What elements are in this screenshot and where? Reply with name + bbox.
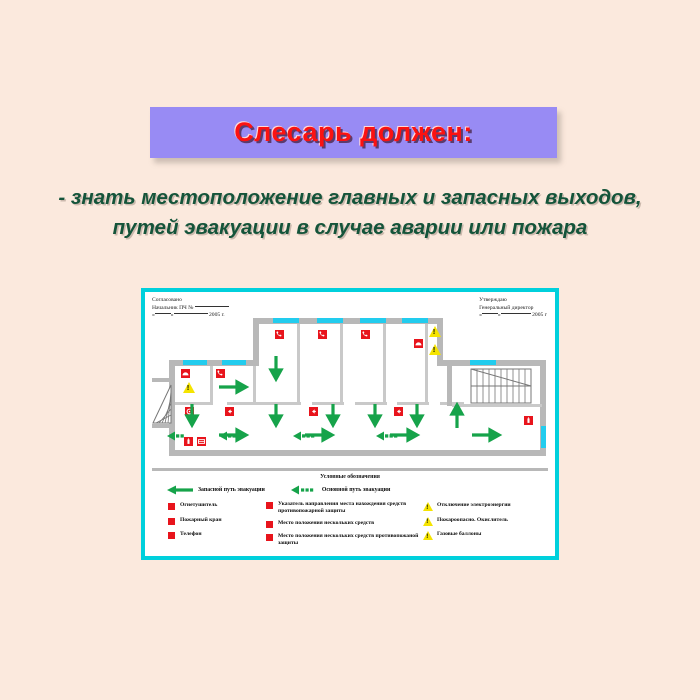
legend-item: Пожароопасно. Окислитель	[423, 517, 555, 526]
plan-header-left: Согласовано Начальник ПЧ № «» 2005 г.	[152, 297, 229, 320]
window-left-1	[183, 360, 207, 365]
partition-v-2	[253, 366, 256, 404]
legend-item-label: Газовые баллоны	[437, 531, 481, 538]
fire-chief-label: Начальник ПЧ №	[152, 305, 229, 313]
fire-alarm-bell-icon	[413, 338, 424, 349]
evacuation-arrow-down	[369, 404, 381, 426]
title-banner: Слесарь должен:	[150, 107, 557, 158]
dotted-arrow-left-icon	[291, 485, 317, 495]
telephone-icon	[317, 329, 328, 340]
telephone-icon	[215, 368, 226, 379]
partition-v-5	[383, 324, 386, 404]
page-title: Слесарь должен:	[234, 117, 473, 148]
window-top-1	[273, 318, 299, 323]
telephone-icon	[167, 531, 176, 540]
legend-item: Газовые баллоны	[423, 531, 555, 540]
evacuation-arrow-down	[186, 404, 198, 426]
wall-main-bottom	[169, 450, 546, 456]
warning-triangle-icon	[423, 502, 433, 511]
subtitle-line-1: - знать местоположение главных и запасны…	[0, 183, 700, 213]
solid-arrow-left-icon	[167, 485, 193, 495]
telephone-icon	[360, 329, 371, 340]
fire-extinguisher-icon	[167, 502, 176, 511]
partition-v-6	[425, 324, 428, 404]
legend-item-label: Место положения нескольких средств проти…	[278, 533, 423, 547]
legend-path-types: Запасной путь эвакуации Основной путь эв…	[167, 485, 547, 495]
evacuation-arrow-right	[472, 429, 500, 441]
telephone-icon	[274, 329, 285, 340]
legend-title: Условные обозначения	[145, 474, 555, 480]
window-left-2	[222, 360, 246, 365]
wall-stairroom-left	[447, 360, 452, 406]
fire-alarm-bell-icon	[180, 368, 191, 379]
window-top-3	[360, 318, 386, 323]
window-right-side	[541, 426, 546, 448]
evacuation-arrow-down	[270, 356, 282, 380]
direction-indicator-icon	[265, 501, 274, 510]
evacuation-plan: Согласовано Начальник ПЧ № «» 2005 г. Ут…	[141, 288, 559, 560]
warning-triangle-icon	[429, 344, 441, 355]
fire-alarm-bell-icon	[265, 533, 274, 542]
legend-item: Место положения нескольких средств	[265, 520, 423, 529]
warning-triangle-icon	[429, 326, 441, 337]
plan-header-right: Утверждаю Генеральный директор «» 2005 г	[479, 297, 547, 320]
evacuation-arrow-up	[451, 404, 463, 428]
direction-indicator-icon	[224, 406, 235, 417]
partition-v-1	[210, 366, 213, 404]
fire-hydrant-icon	[196, 436, 207, 447]
warning-triangle-icon	[423, 531, 433, 540]
evacuation-arrow-down	[270, 404, 282, 426]
subtitle-block: - знать местоположение главных и запасны…	[0, 183, 700, 243]
staircase-left-icon	[152, 382, 172, 424]
legend-item-label: Отключение электроэнергии	[437, 502, 511, 509]
legend-item: Телефон	[167, 531, 265, 540]
approval-label-right: Утверждаю	[479, 297, 547, 305]
legend-main-path-label: Основной путь эвакуации	[322, 487, 390, 493]
legend-item: Отключение электроэнергии	[423, 502, 555, 511]
approval-label-left: Согласовано	[152, 297, 229, 305]
wall-top-wing-right	[437, 318, 443, 362]
subtitle-line-2: путей эвакуации в случае аварии или пожа…	[0, 213, 700, 243]
legend-column-2: Указатель направления места нахождения с…	[265, 501, 423, 547]
legend-divider	[152, 468, 548, 471]
fire-hydrant-icon	[167, 517, 176, 526]
main-path-arrow-left	[291, 430, 317, 442]
legend-item: Пожарный кран	[167, 517, 265, 526]
legend-item-label: Место положения нескольких средств	[278, 520, 374, 527]
legend-column-3: Отключение электроэнергии Пожароопасно. …	[423, 501, 555, 547]
legend-item-label: Телефон	[180, 531, 202, 538]
evacuation-arrow-down	[411, 404, 423, 426]
fire-alarm-button-icon	[265, 520, 274, 529]
corridor-wall-a	[227, 402, 301, 405]
staircase-right-icon	[470, 368, 532, 404]
legend-column-1: Огнетушитель Пожарный кран Телефон	[167, 501, 265, 547]
evacuation-arrow-right	[219, 381, 247, 393]
legend-item-label: Указатель направления места нахождения с…	[278, 501, 423, 515]
window-top-2	[317, 318, 343, 323]
partition-v-4	[340, 324, 343, 404]
legend-reserve-path-label: Запасной путь эвакуации	[198, 487, 265, 493]
legend-reserve-path: Запасной путь эвакуации	[167, 485, 265, 495]
direction-indicator-icon	[308, 406, 319, 417]
legend-item: Огнетушитель	[167, 502, 265, 511]
legend-item-label: Пожароопасно. Окислитель	[437, 517, 508, 524]
legend-item: Указатель направления места нахождения с…	[265, 501, 423, 515]
evacuation-arrow-down	[327, 404, 339, 426]
wall-stair-alcove-bottom	[152, 424, 172, 428]
wall-top-wing-left	[253, 318, 259, 362]
direction-indicator-icon	[393, 406, 404, 417]
wall-stairroom-bottom	[452, 404, 542, 407]
fire-extinguisher-icon	[523, 415, 534, 426]
legend-main-path: Основной путь эвакуации	[291, 485, 390, 495]
legend-item-label: Огнетушитель	[180, 502, 217, 509]
main-path-arrow-left	[217, 430, 243, 442]
main-path-arrow-left	[374, 430, 400, 442]
legend-item: Место положения нескольких средств проти…	[265, 533, 423, 547]
floor-plan-drawing	[152, 318, 548, 466]
signature-rule	[195, 305, 229, 307]
legend-item-label: Пожарный кран	[180, 517, 222, 524]
partition-v-3	[297, 324, 300, 404]
general-director-label: Генеральный директор	[479, 305, 547, 313]
window-top-4	[402, 318, 428, 323]
warning-triangle-icon	[423, 517, 433, 526]
legend-columns: Огнетушитель Пожарный кран Телефон У	[167, 501, 557, 547]
window-right-1	[470, 360, 496, 365]
main-path-arrow-left	[159, 430, 185, 442]
warning-triangle-icon	[183, 382, 195, 393]
